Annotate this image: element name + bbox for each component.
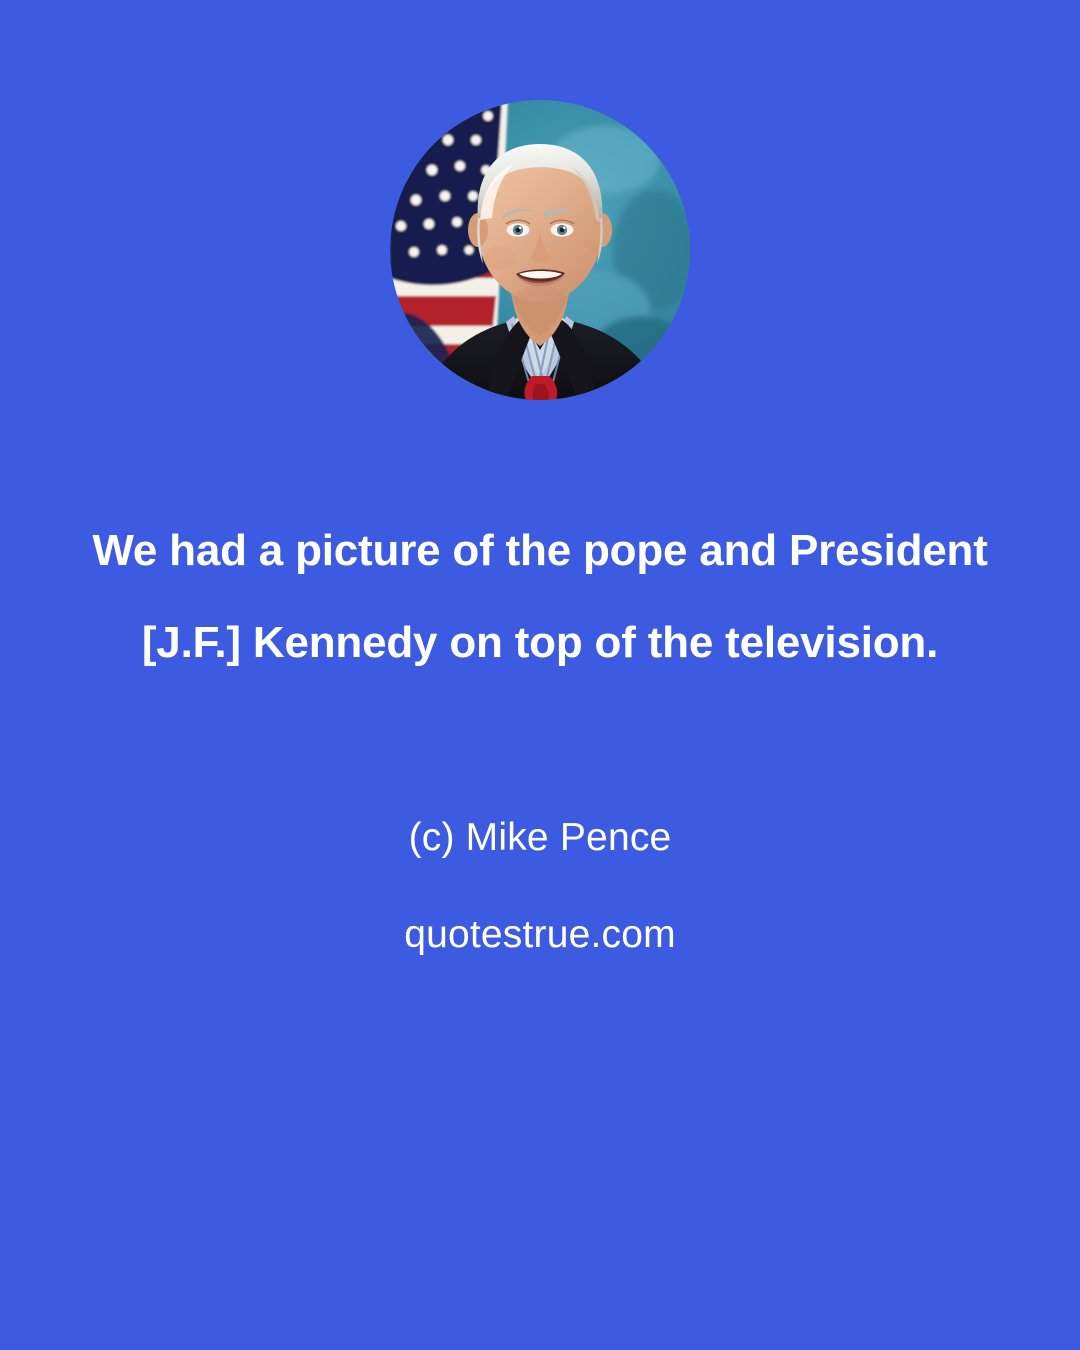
quote-card: We had a picture of the pope and Preside… (0, 0, 1080, 1350)
quote-text: We had a picture of the pope and Preside… (0, 505, 1080, 689)
quote-line-2: [J.F.] Kennedy on top of the television. (142, 618, 938, 667)
site-watermark: quotestrue.com (0, 910, 1080, 960)
author-portrait (390, 100, 690, 400)
quote-line-1: We had a picture of the pope and Preside… (92, 526, 987, 575)
quote-author: (c) Mike Pence (0, 813, 1080, 863)
portrait-avatar-icon (390, 100, 690, 400)
